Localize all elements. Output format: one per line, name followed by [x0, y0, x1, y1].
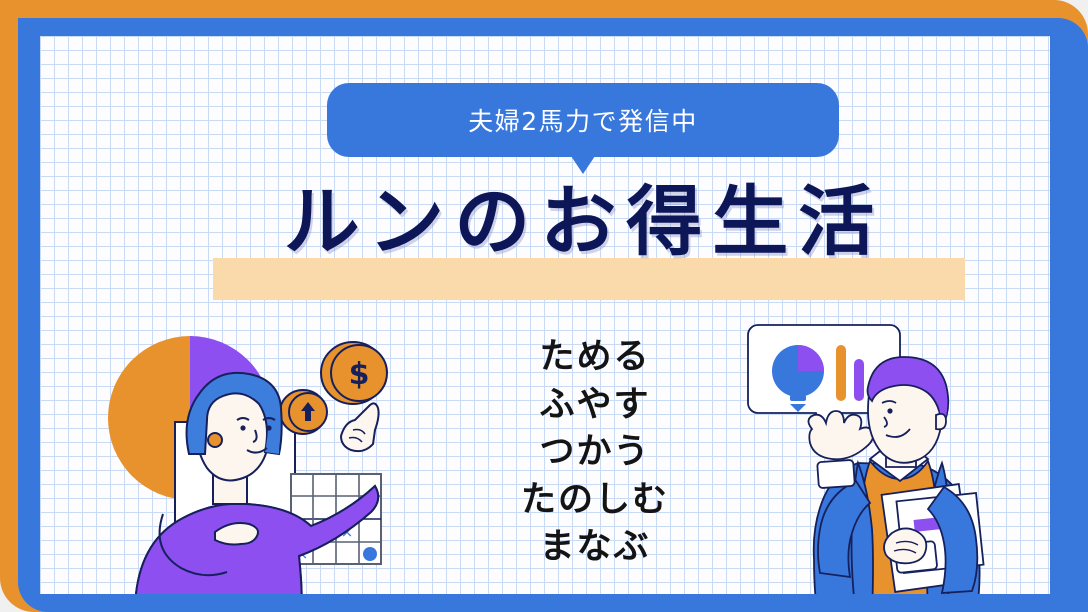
pointing-hand [341, 403, 379, 451]
earring [208, 433, 222, 447]
page-title: ルンのお得生活 [40, 184, 1050, 260]
list-item: ためる [464, 334, 726, 382]
tagline-badge: 夫婦2馬力で発信中 [327, 83, 839, 157]
tagline-text: 夫婦2馬力で発信中 [468, 102, 697, 138]
list-item: つかう [464, 429, 726, 477]
svg-text:$: $ [349, 357, 370, 392]
illustration-woman-investor: × × $ [95, 318, 435, 594]
tagline-badge-tail [571, 156, 595, 174]
coin-arrow-up-icon [280, 390, 327, 434]
list-item: ふやす [464, 382, 726, 430]
man-hand-right [884, 528, 926, 563]
grid-paper-canvas: 夫婦2馬力で発信中 ルンのお得生活 ためる ふやす つかう たのしむ まなぶ [40, 36, 1050, 594]
man-open-hand [808, 411, 873, 459]
coin-dollar-icon: $ [321, 342, 387, 404]
list-item: たのしむ [464, 477, 726, 525]
promo-banner: 夫婦2馬力で発信中 ルンのお得生活 ためる ふやす つかう たのしむ まなぶ [0, 0, 1088, 612]
keyword-list: ためる ふやす つかう たのしむ まなぶ [464, 334, 726, 572]
illustration-man-presenter [740, 311, 1050, 594]
list-item: まなぶ [464, 524, 726, 572]
